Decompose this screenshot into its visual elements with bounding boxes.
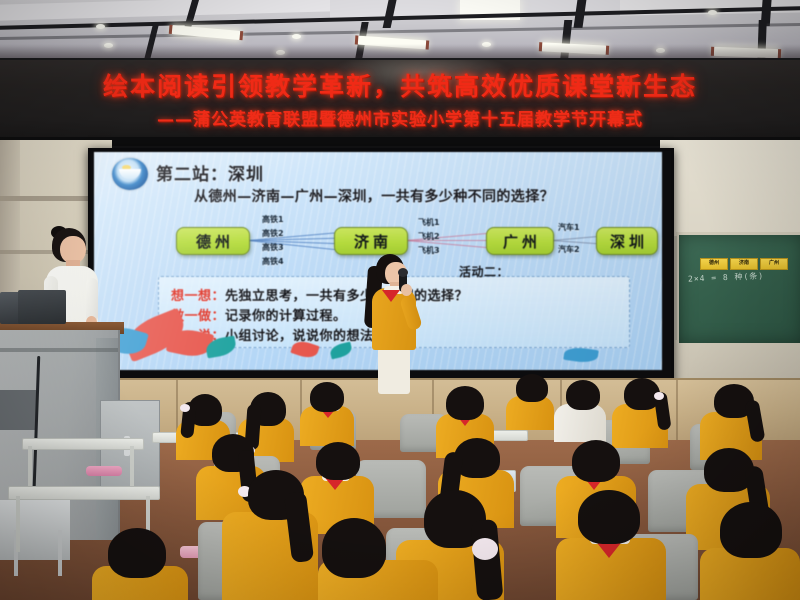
board-card-label: 德州	[701, 259, 727, 268]
downlight	[708, 10, 717, 15]
banner-main-title: 绘本阅读引领教学革新，共筑高效优质课堂新生态	[0, 67, 800, 103]
board-card-label: 广州	[761, 259, 787, 268]
pencil-case	[86, 466, 122, 476]
ceiling	[0, 0, 800, 62]
event-banner: 绘本阅读引领教学革新，共筑高效优质课堂新生态 ——蒲公英教育联盟暨德州市实验小学…	[0, 60, 800, 146]
student-desk	[22, 438, 144, 450]
board-card: 德州	[700, 258, 728, 270]
banner-subtitle: ——蒲公英教育联盟暨德州市实验小学第十五届教学节开幕式	[0, 105, 800, 130]
downlight	[292, 34, 301, 39]
blackboard	[676, 232, 800, 343]
downlight	[96, 24, 105, 29]
equipment-box	[0, 390, 36, 430]
ceiling-light-fixture	[172, 25, 241, 40]
board-card: 广州	[760, 258, 788, 270]
board-card: 济南	[730, 258, 758, 270]
student-desk	[8, 486, 160, 500]
board-card-label: 济南	[731, 259, 757, 268]
lectern-monitor	[18, 290, 66, 324]
classroom-screenshot: 绘本阅读引领教学革新，共筑高效优质课堂新生态 ——蒲公英教育联盟暨德州市实验小学…	[0, 0, 800, 600]
